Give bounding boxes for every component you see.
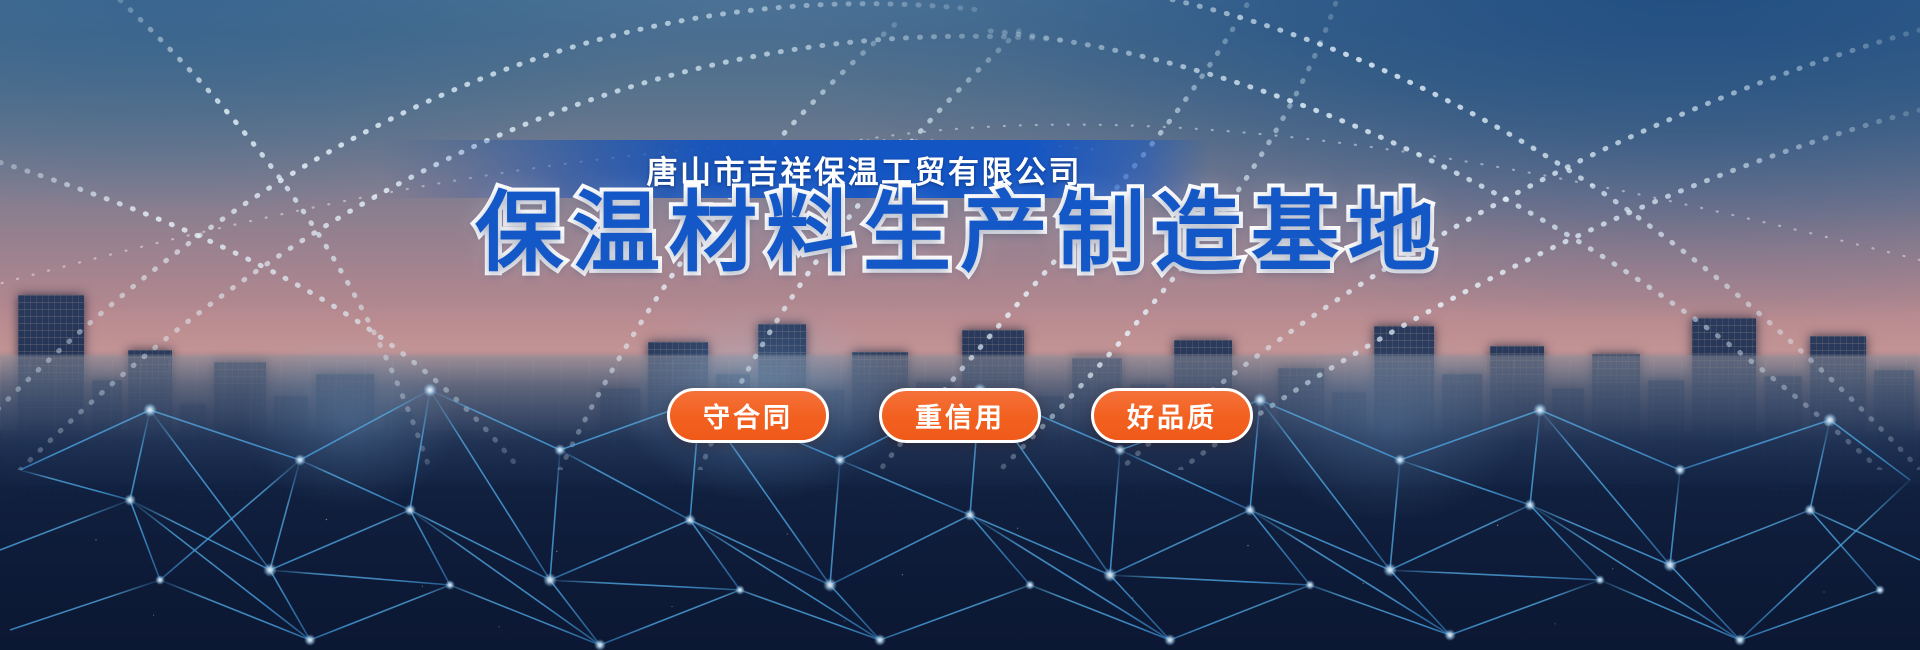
badge-label: 好品质: [1127, 396, 1217, 435]
hero-banner: 唐山市吉祥保温工贸有限公司 保温材料生产制造基地 守合同 重信用 好品质: [0, 0, 1920, 650]
badge-zhong-xin-yong[interactable]: 重信用: [879, 388, 1041, 443]
badge-hao-pin-zhi[interactable]: 好品质: [1091, 388, 1253, 443]
badge-shou-he-tong[interactable]: 守合同: [667, 388, 829, 443]
banner-content: 唐山市吉祥保温工贸有限公司 保温材料生产制造基地 守合同 重信用 好品质: [0, 0, 1920, 650]
badge-label: 重信用: [915, 396, 1005, 435]
badge-label: 守合同: [703, 396, 793, 435]
page-title: 保温材料生产制造基地: [0, 186, 1920, 279]
badge-group: 守合同 重信用 好品质: [0, 388, 1920, 443]
